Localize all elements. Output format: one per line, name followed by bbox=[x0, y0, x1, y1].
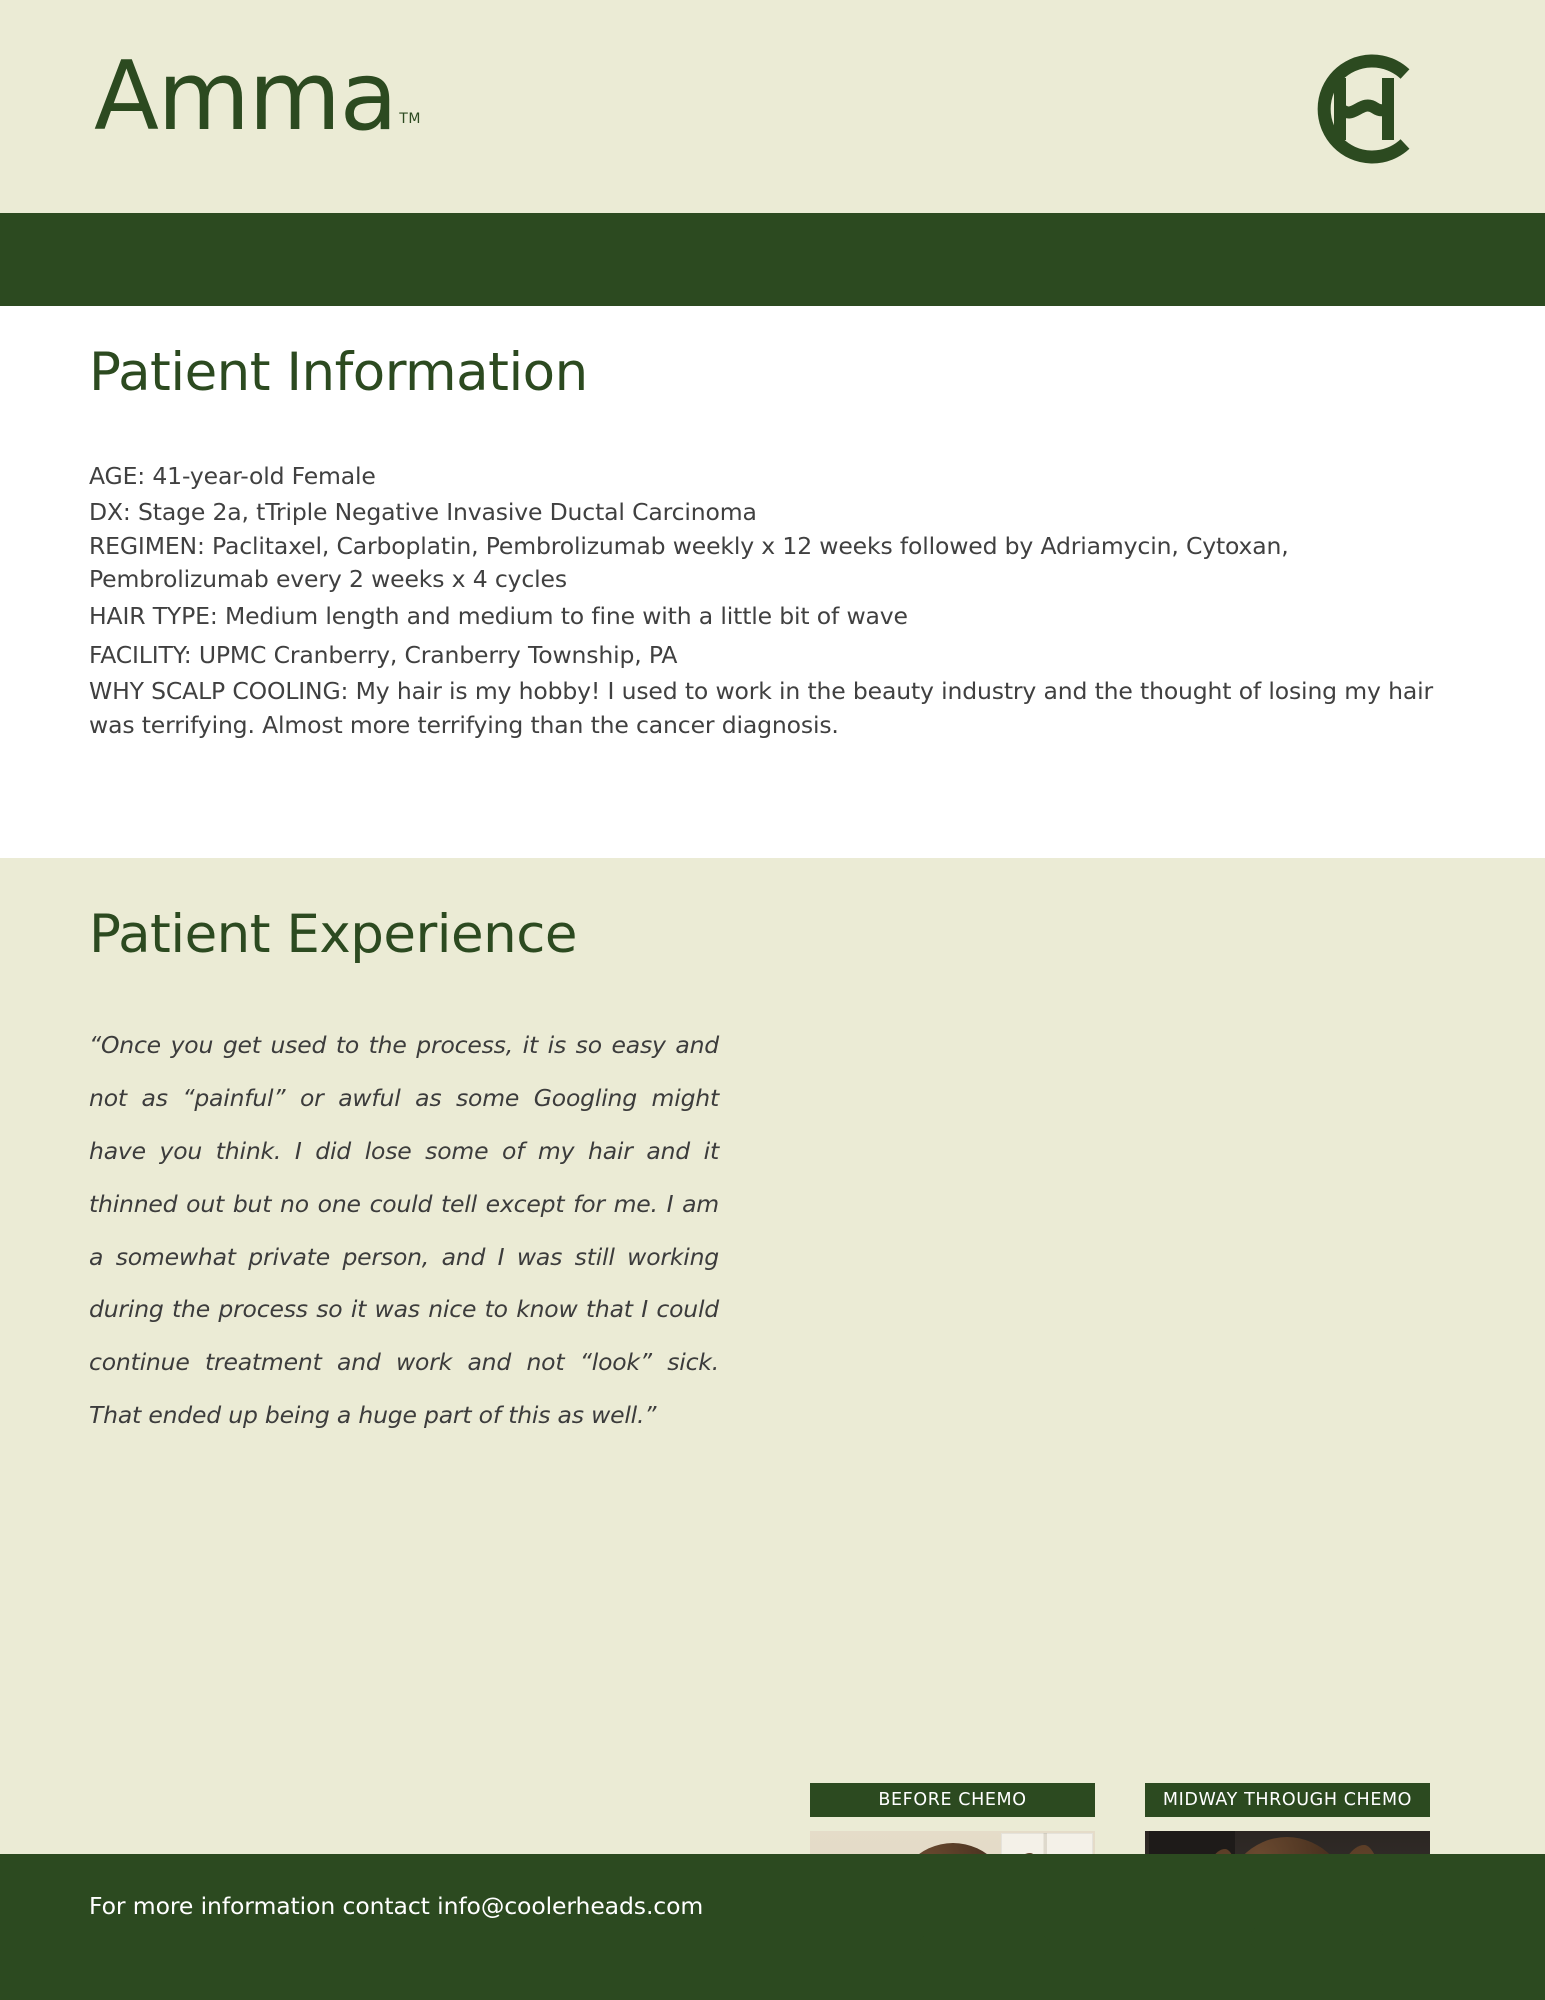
amma-logo: Amma TM bbox=[94, 54, 421, 141]
patient-information-fields: AGE: 41-year-old Female DX: Stage 2a, tT… bbox=[89, 457, 1474, 742]
trademark-symbol: TM bbox=[399, 111, 421, 127]
eye-redaction-bar bbox=[1249, 1927, 1383, 1949]
eye-redaction-bar bbox=[918, 1935, 1050, 1957]
amma-wordmark: Amma bbox=[94, 54, 396, 141]
patient-story-page: Amma TM Patient Information AGE: 41-year… bbox=[0, 0, 1545, 2000]
field-hair-type: HAIR TYPE: Medium length and medium to f… bbox=[89, 597, 1474, 636]
footer-contact-text: For more information contact info@cooler… bbox=[89, 1892, 703, 1920]
patient-experience-section: Patient Experience “Once you get used to… bbox=[0, 858, 1545, 1854]
photo-label-midway-through-chemo: MIDWAY THROUGH CHEMO bbox=[1145, 1783, 1430, 1817]
patient-information-section: Patient Information AGE: 41-year-old Fem… bbox=[0, 306, 1545, 858]
page-header: Amma TM bbox=[0, 0, 1545, 213]
field-dx: DX: Stage 2a, tTriple Negative Invasive … bbox=[89, 496, 1474, 529]
patient-information-title: Patient Information bbox=[89, 344, 588, 402]
photo-label-before-chemo: BEFORE CHEMO bbox=[810, 1783, 1095, 1817]
field-why-scalp-cooling: WHY SCALP COOLING: My hair is my hobby! … bbox=[89, 675, 1474, 742]
patient-quote: “Once you get used to the process, it is… bbox=[89, 1019, 719, 1442]
field-regimen: REGIMEN: Paclitaxel, Carboplatin, Pembro… bbox=[89, 530, 1474, 597]
header-accent-band bbox=[0, 213, 1545, 306]
field-age: AGE: 41-year-old Female bbox=[89, 457, 1474, 496]
coolerheads-ch-logo-icon bbox=[1303, 48, 1425, 170]
field-facility: FACILITY: UPMC Cranberry, Cranberry Town… bbox=[89, 636, 1474, 675]
patient-experience-title: Patient Experience bbox=[89, 906, 577, 964]
